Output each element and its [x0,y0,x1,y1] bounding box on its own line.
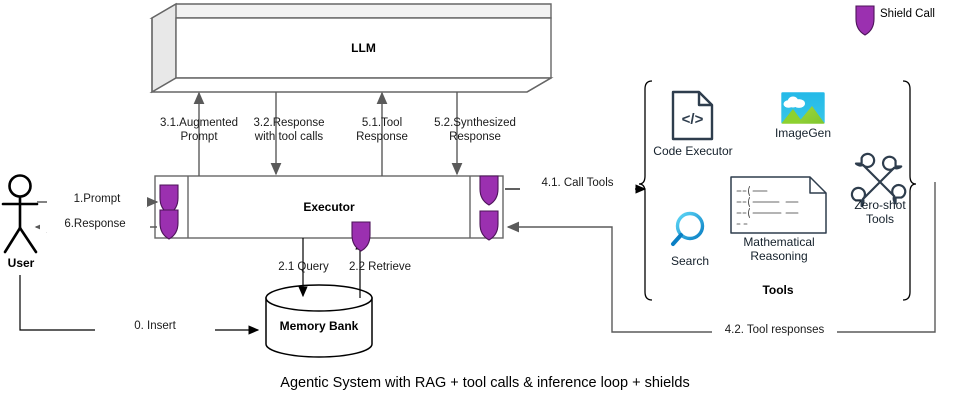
memory-bank-label: Memory Bank [266,319,372,333]
edge-label-call-tools: 4.1. Call Tools [520,177,635,191]
user-actor [3,176,37,253]
tool-label-search: Search [662,254,718,268]
edge-label-synthesized-response: 5.2.Synthesized Response [419,117,531,144]
user-label: User [0,256,42,270]
diagram-caption: Agentic System with RAG + tool calls & i… [0,375,970,392]
tool-label-imagegen: ImageGen [763,126,843,140]
tools-group-label: Tools [715,283,841,297]
diagram-canvas: </> [0,0,970,411]
tool-label-mathematical-reasoning: Mathematical Reasoning [724,235,834,263]
shield-icon-legend [856,6,874,35]
edge-label-tool-responses: 4.2. Tool responses [712,324,837,338]
edge-label-query: 2.1 Query [266,261,341,275]
llm-label: LLM [176,41,551,55]
tool-label-code-executor: Code Executor [641,144,745,158]
edge-label-response: 6.Response [40,218,150,232]
image-icon [781,92,825,124]
executor-label: Executor [188,200,470,214]
tool-label-zero-shot-tools: Zero-shot Tools [840,198,920,226]
edge-label-tool-response: 5.1.Tool Response [334,117,430,144]
code-file-icon: </> [673,92,712,139]
magnifier-icon [673,214,703,245]
edge-label-prompt: 1.Prompt [47,193,147,207]
legend-label-shield-call: Shield Call [880,8,966,22]
edge-label-retrieve: 2.2 Retrieve [336,261,424,275]
edge-label-insert: 0. Insert [95,320,215,334]
edge-label-response-with-tool-calls: 3.2.Response with tool calls [233,117,345,144]
svg-text:</>: </> [682,111,704,128]
shield-icon-executor-memory [352,222,370,251]
math-document-icon [731,177,826,233]
